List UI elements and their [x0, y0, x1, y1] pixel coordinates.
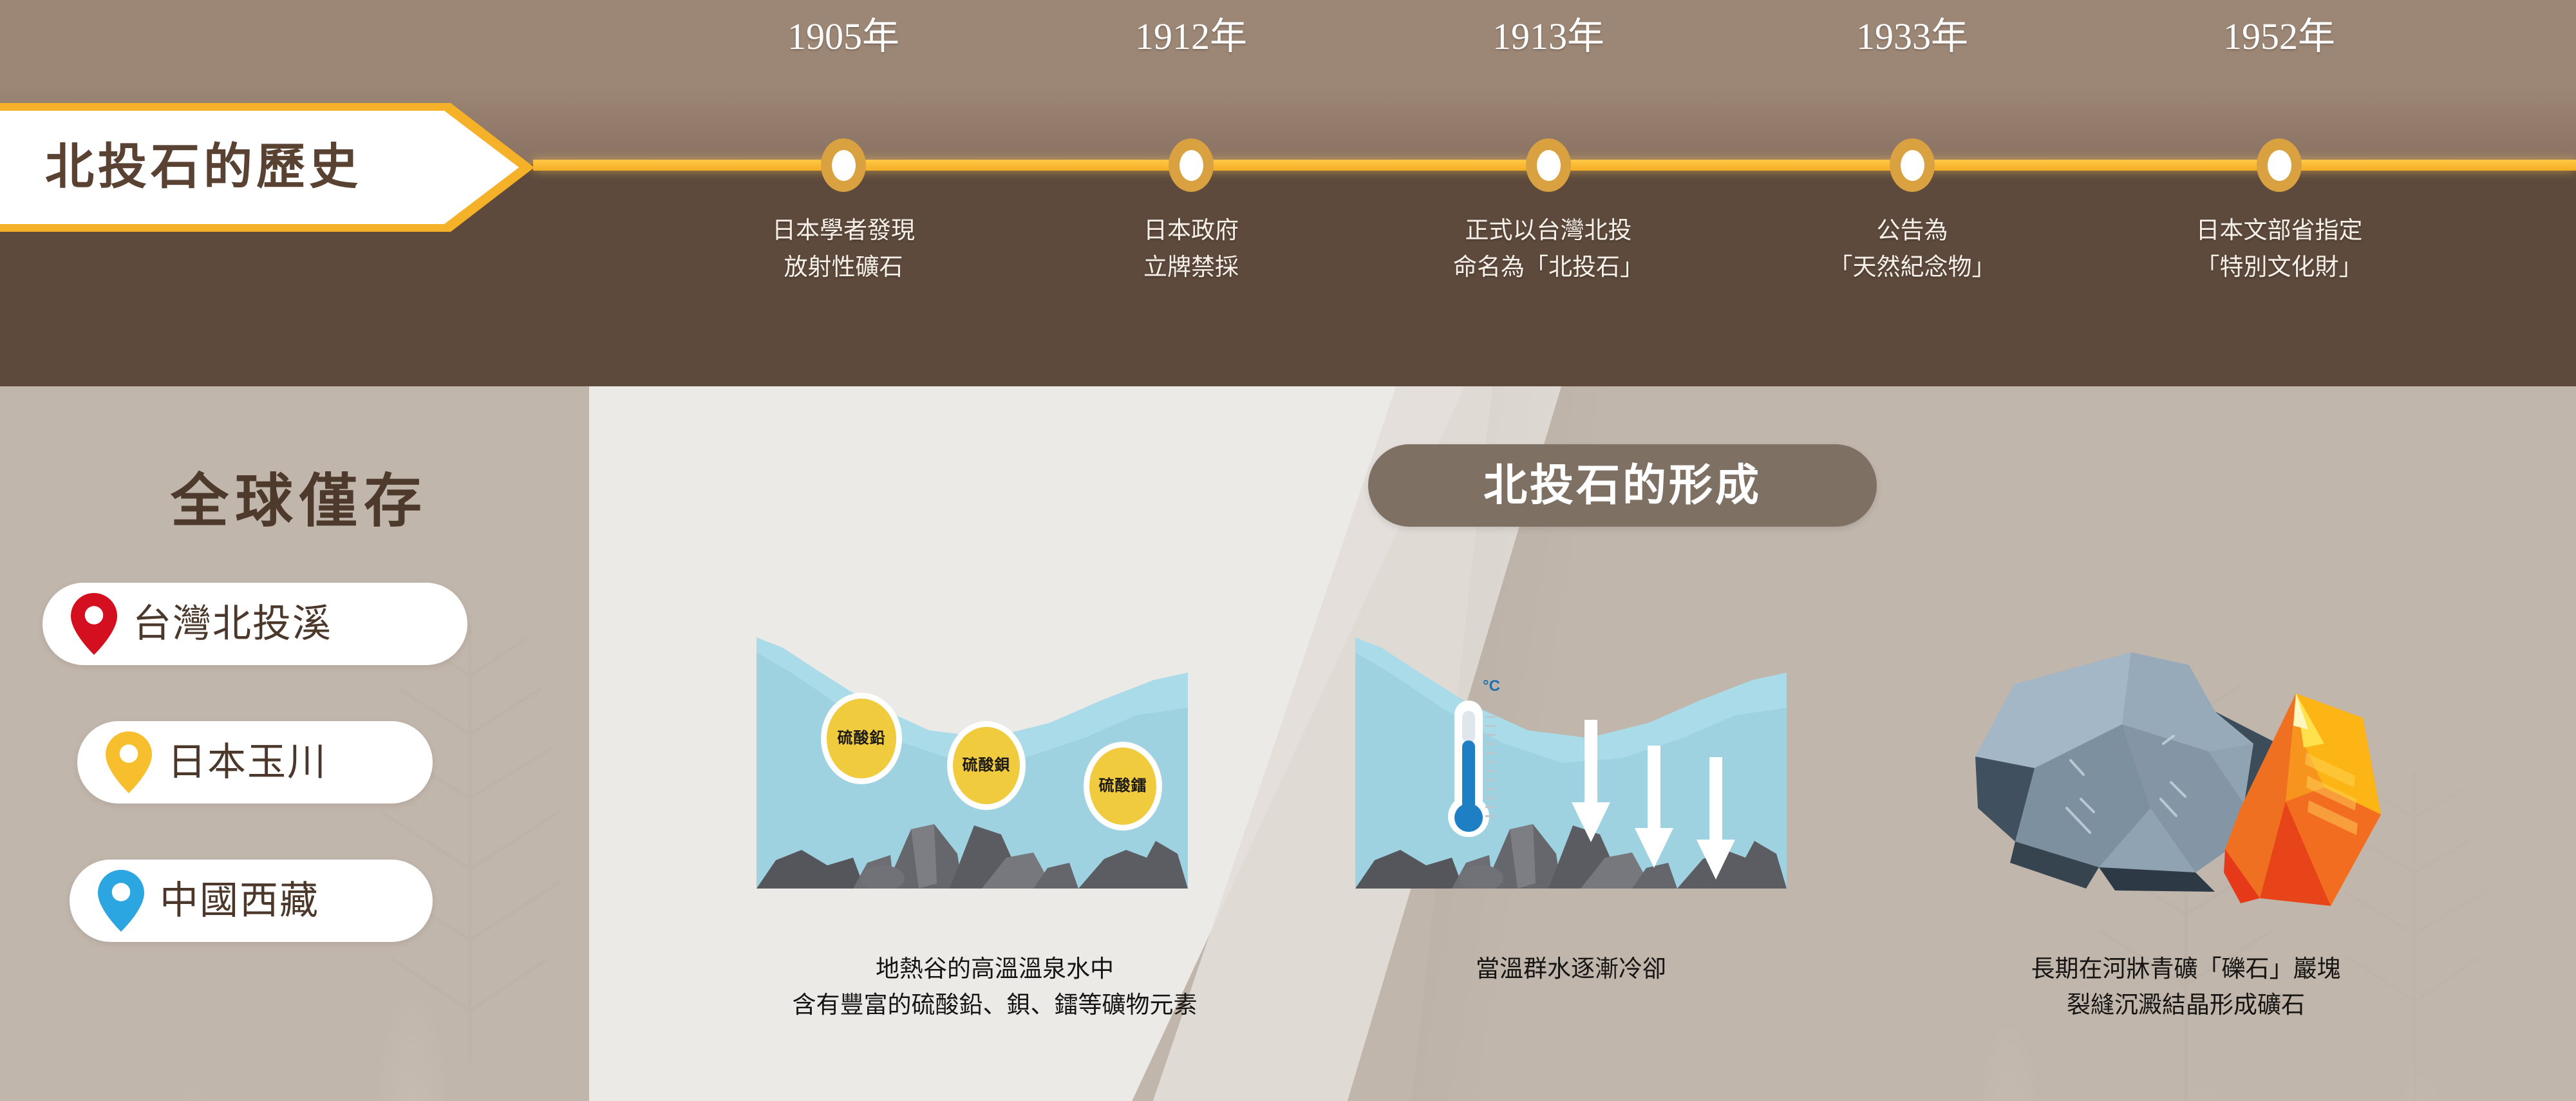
mineral-bubble: 硫酸鐳 [1084, 742, 1162, 831]
mineral-label: 硫酸鉛 [838, 731, 886, 746]
timeline-description: 日本學者發現 放射性礦石 [718, 212, 969, 287]
page-title: 北投石的歷史 [45, 143, 362, 192]
formation-section-badge: 北投石的形成 [1368, 444, 1877, 527]
timeline-year: 1913年 [1452, 18, 1645, 55]
timeline-year: 1933年 [1816, 18, 2009, 55]
timeline-year: 1952年 [2183, 18, 2376, 55]
mineral-bubble: 硫酸鉛 [821, 693, 902, 784]
infographic-root: 北投石的歷史 1905年 日本學者發現 放射性礦石 1912年 日本政府 立牌禁… [0, 0, 2576, 1101]
thermometer-cooling-icon: °C [1355, 637, 1787, 889]
formation-step-2-caption: 當溫群水逐漸冷卻 [1371, 952, 1771, 988]
formation-step-1-illustration: 硫酸鉛 硫酸鋇 硫酸鐳 [757, 637, 1194, 895]
location-label: 中國西藏 [160, 881, 319, 920]
timeline-year: 1905年 [747, 18, 940, 55]
formation-step-1-caption: 地熱谷的高溫溫泉水中 含有豐富的硫酸鉛、鋇、鐳等礦物元素 [728, 952, 1262, 1023]
header-timeline-section: 北投石的歷史 1905年 日本學者發現 放射性礦石 1912年 日本政府 立牌禁… [0, 0, 2576, 386]
formation-step-3-caption: 長期在河牀青礦「礫石」巖塊 裂縫沉澱結晶形成礦石 [1941, 952, 2430, 1023]
timeline-description: 日本文部省指定 「特別文化財」 [2154, 212, 2405, 287]
timeline-marker-dot [821, 138, 866, 192]
map-pin-icon [71, 593, 117, 655]
location-pill-japan[interactable]: 日本玉川 [77, 721, 433, 804]
timeline-marker-dot [1169, 138, 1214, 192]
map-pin-icon [98, 870, 144, 932]
location-label: 日本玉川 [167, 743, 327, 782]
cooling-arrow-down-icon [1568, 720, 1614, 842]
location-label: 台灣北投溪 [133, 605, 332, 643]
timeline-year: 1912年 [1095, 18, 1288, 55]
mineral-label: 硫酸鐳 [1099, 778, 1147, 794]
timeline-description: 日本政府 立牌禁採 [1066, 212, 1317, 287]
hot-spring-water-icon: 硫酸鉛 硫酸鋇 硫酸鐳 [757, 637, 1188, 889]
cooling-arrow-down-icon [1693, 757, 1739, 880]
timeline-marker-dot [1890, 138, 1935, 192]
timeline-marker-dot [2257, 138, 2302, 192]
timeline-marker-dot [1526, 138, 1571, 192]
global-rarity-title: 全球僅存 [97, 473, 502, 531]
location-pill-china[interactable]: 中國西藏 [70, 860, 433, 942]
rock-crystal-icon [1938, 615, 2389, 930]
title-banner: 北投石的歷史 [0, 111, 519, 224]
timeline-description: 公告為 「天然紀念物」 [1787, 212, 2038, 287]
location-pill-taiwan[interactable]: 台灣北投溪 [42, 583, 467, 665]
thermometer-icon: °C [1445, 701, 1516, 839]
cooling-arrow-down-icon [1631, 746, 1677, 868]
temperature-unit-label: °C [1483, 677, 1500, 695]
map-pin-icon [106, 731, 152, 793]
formation-step-3-illustration [1938, 615, 2389, 930]
formation-step-2-illustration: °C [1355, 637, 1793, 895]
timeline-description: 正式以台灣北投 命名為「北投石」 [1423, 212, 1674, 287]
mineral-label: 硫酸鋇 [963, 758, 1011, 773]
formation-section-title: 北投石的形成 [1483, 464, 1762, 507]
mineral-bubble: 硫酸鋇 [947, 721, 1026, 810]
